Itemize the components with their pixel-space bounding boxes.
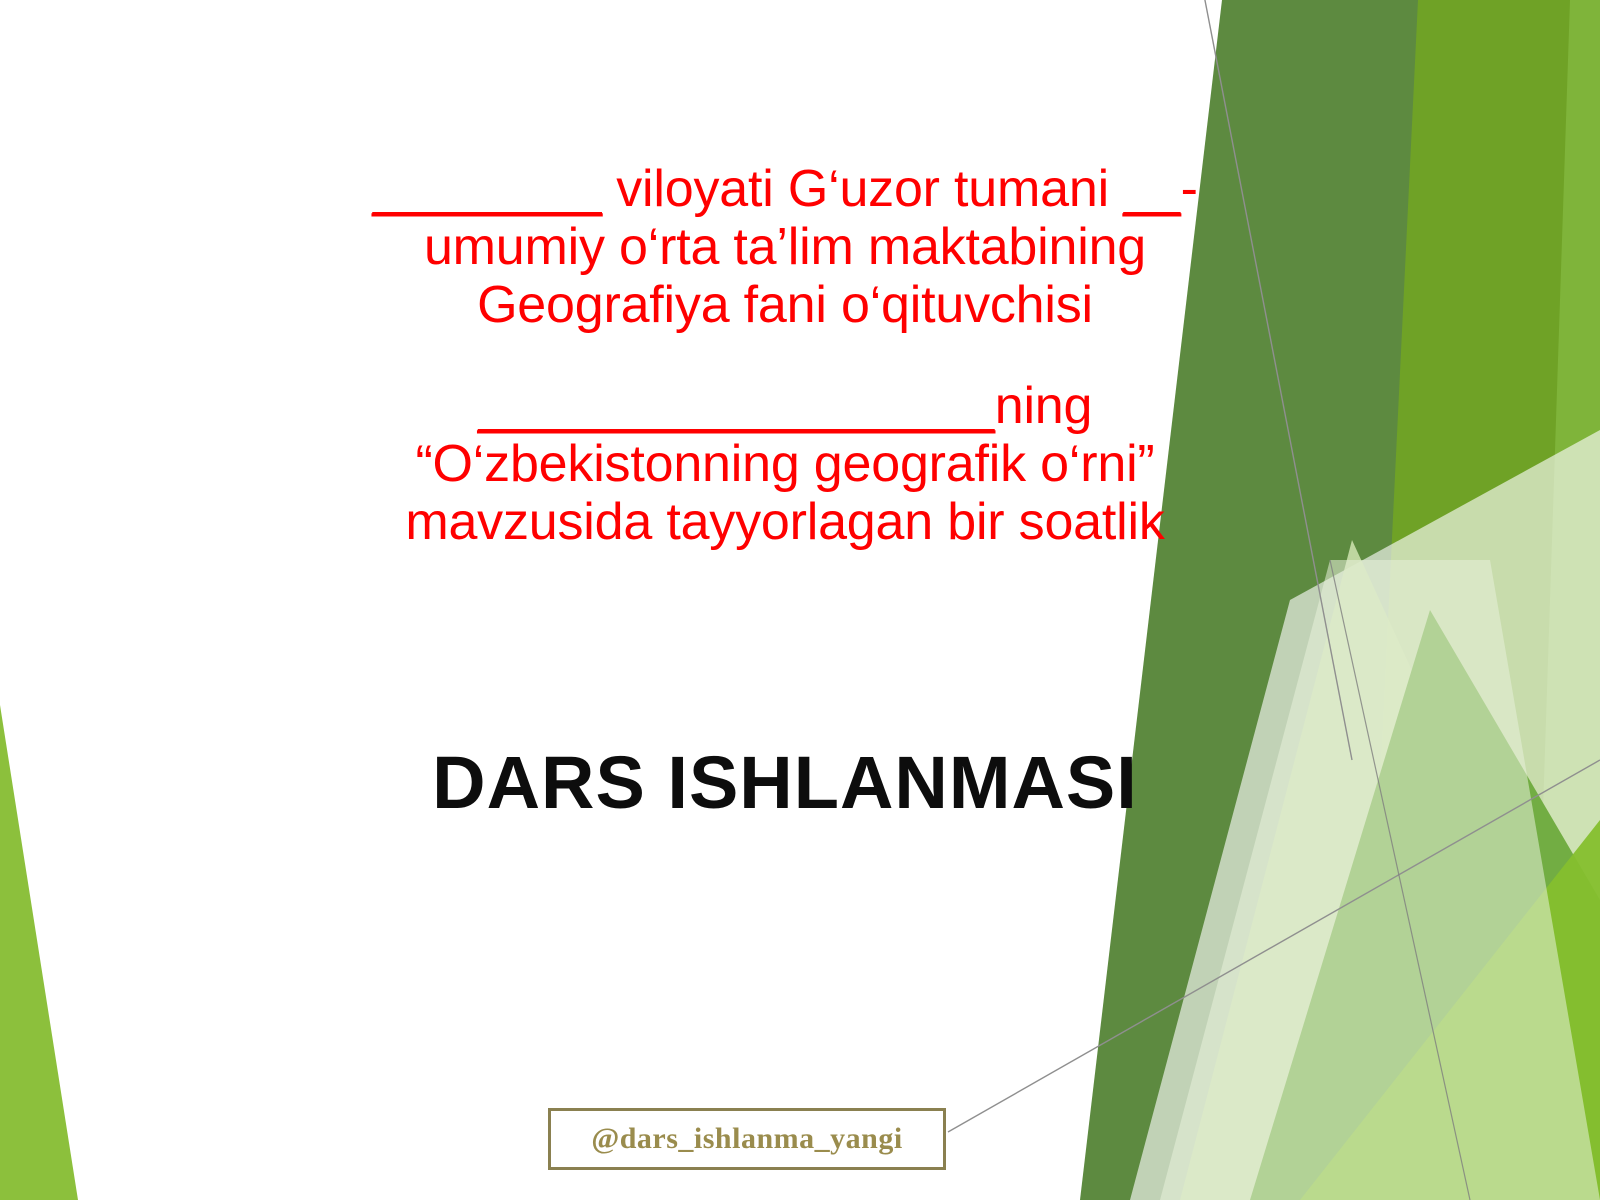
blank-fill-line-3: __________________: [478, 377, 995, 435]
social-handle-label: @dars_ishlanma_yangi: [591, 1122, 902, 1156]
subtitle-p2-line-4: bir soatlik: [947, 493, 1164, 551]
presentation-slide: ________ viloyati G‘uzor tumani __-umumi…: [0, 0, 1600, 1200]
subtitle-line-4: o‘qituvchisi: [841, 276, 1093, 334]
subtitle-line-1-rest: viloyati G‘uzor tumani: [602, 160, 1109, 218]
page-title: DARS ISHLANMASI: [330, 740, 1240, 825]
blank-fill-line-1: ________: [372, 160, 602, 218]
social-handle-box: @dars_ishlanma_yangi: [548, 1108, 946, 1170]
subtitle-paragraph-1: ________ viloyati G‘uzor tumani __-umumi…: [360, 160, 1210, 335]
blank-fill-line-2: __: [1123, 160, 1180, 218]
slide-content: ________ viloyati G‘uzor tumani __-umumi…: [0, 0, 1600, 1200]
subtitle-paragraph-2: __________________ning “O‘zbekistonning …: [360, 377, 1210, 552]
subtitle-text-block: ________ viloyati G‘uzor tumani __-umumi…: [360, 160, 1210, 551]
subtitle-p2-line-2: “O‘zbekistonning geografik: [415, 435, 1025, 493]
subtitle-p2-rest: ning: [995, 377, 1093, 435]
